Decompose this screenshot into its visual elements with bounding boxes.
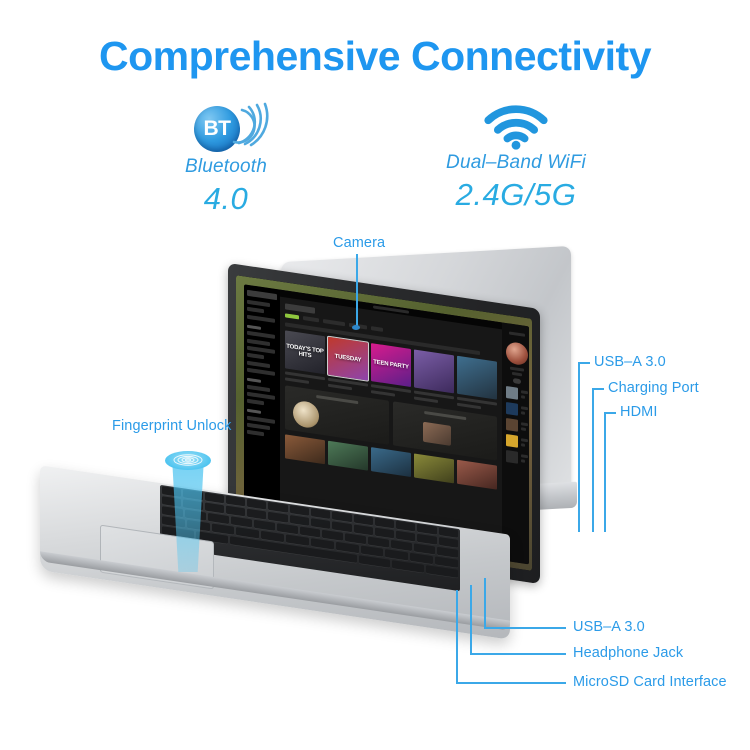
list-item[interactable] xyxy=(506,386,528,401)
tab-item[interactable] xyxy=(303,316,319,322)
bluetooth-version: 4.0 xyxy=(131,181,321,217)
callout-fingerprint: Fingerprint Unlock xyxy=(112,418,231,434)
album-title: TODAY'S TOP HITS xyxy=(285,343,325,362)
infographic-canvas: Comprehensive Connectivity BT Bluetooth … xyxy=(0,0,750,750)
bluetooth-label: Bluetooth xyxy=(131,156,321,178)
album-card[interactable] xyxy=(457,356,497,412)
app-sidebar[interactable] xyxy=(244,284,280,527)
callout-microsd: MicroSD Card Interface xyxy=(573,674,727,690)
list-item[interactable] xyxy=(506,434,528,449)
friend-activity-sidebar xyxy=(502,322,529,564)
album-art xyxy=(457,356,497,400)
tab-item[interactable] xyxy=(323,319,345,326)
callout-usb-a-rear: USB–A 3.0 xyxy=(594,354,666,370)
album-title: TUESDAY xyxy=(335,354,362,364)
beam-cone xyxy=(166,460,210,572)
fingerprint-beam xyxy=(152,446,224,576)
leader-headphone-v xyxy=(470,585,472,653)
bluetooth-icon: BT xyxy=(180,104,272,154)
thumb-item[interactable] xyxy=(328,441,368,471)
callout-camera: Camera xyxy=(333,235,385,251)
album-title: TEEN PARTY xyxy=(373,359,409,371)
callout-headphone-jack: Headphone Jack xyxy=(573,645,683,661)
camera-dot xyxy=(352,325,360,330)
callout-hdmi: HDMI xyxy=(620,404,657,420)
front-laptop: TODAY'S TOP HITS TUESDAY T xyxy=(40,286,540,606)
avatar xyxy=(506,341,528,366)
album-card[interactable]: TODAY'S TOP HITS xyxy=(285,330,325,386)
list-item[interactable] xyxy=(506,402,528,417)
album-art: TODAY'S TOP HITS xyxy=(285,330,325,374)
tab-item[interactable] xyxy=(371,326,383,332)
page-title: Comprehensive Connectivity xyxy=(0,33,750,80)
wifi-bands: 2.4G/5G xyxy=(401,177,631,213)
leader-headphone-h xyxy=(470,653,566,655)
bluetooth-waves-icon xyxy=(232,102,272,148)
list-item[interactable] xyxy=(506,450,528,465)
leader-hdmi xyxy=(604,412,606,532)
leader-usb-a-rear xyxy=(578,362,580,532)
album-art: TUESDAY xyxy=(328,337,368,381)
feature-wifi: Dual–Band WiFi 2.4G/5G xyxy=(401,104,631,213)
leader-microsd-h xyxy=(456,682,566,684)
leader-usb-a-front-h xyxy=(484,627,566,629)
thumb-item[interactable] xyxy=(457,460,497,490)
leader-usb-a-front-v xyxy=(484,578,486,628)
fingerprint-icon xyxy=(166,451,210,469)
leader-charging xyxy=(592,388,594,532)
wifi-icon xyxy=(481,104,551,150)
leader-microsd-v xyxy=(456,590,458,682)
tab-active[interactable] xyxy=(285,313,299,319)
thumb-item[interactable] xyxy=(414,453,454,483)
list-item[interactable] xyxy=(506,418,528,433)
leader-camera xyxy=(356,254,358,328)
callout-usb-a-front: USB–A 3.0 xyxy=(573,619,645,635)
thumb-item[interactable] xyxy=(371,447,411,477)
callout-charging-port: Charging Port xyxy=(608,380,699,396)
album-card[interactable]: TEEN PARTY xyxy=(371,343,411,399)
app-logo xyxy=(247,290,277,300)
feature-bluetooth: BT Bluetooth 4.0 xyxy=(131,104,321,217)
album-card[interactable] xyxy=(414,349,454,405)
album-art xyxy=(414,349,454,393)
album-card[interactable]: TUESDAY xyxy=(328,337,368,393)
thumb-item[interactable] xyxy=(285,434,325,464)
wifi-label: Dual–Band WiFi xyxy=(401,152,631,174)
album-art: TEEN PARTY xyxy=(371,343,411,387)
